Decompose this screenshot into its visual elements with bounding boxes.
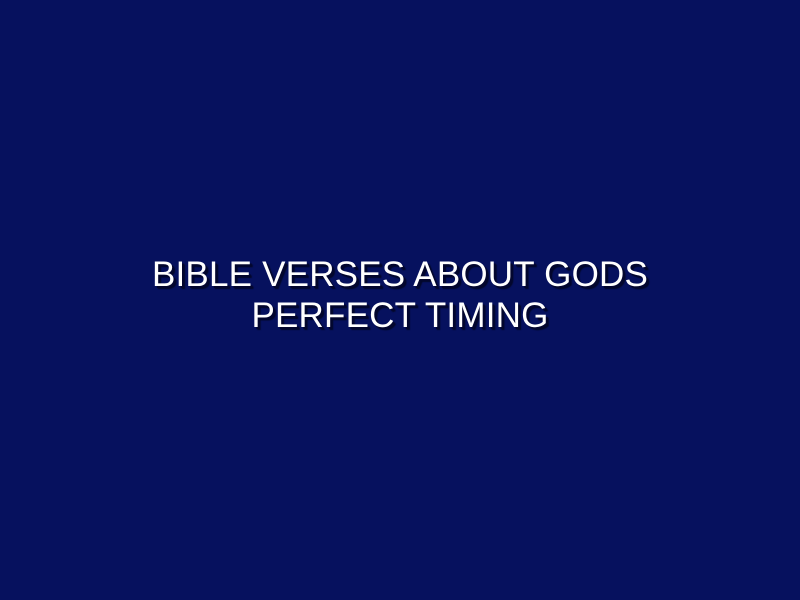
page-title: BIBLE VERSES ABOUT GODS PERFECT TIMING (70, 254, 730, 336)
title-card: BIBLE VERSES ABOUT GODS PERFECT TIMING (0, 0, 800, 600)
headline-block: BIBLE VERSES ABOUT GODS PERFECT TIMING (70, 254, 730, 336)
